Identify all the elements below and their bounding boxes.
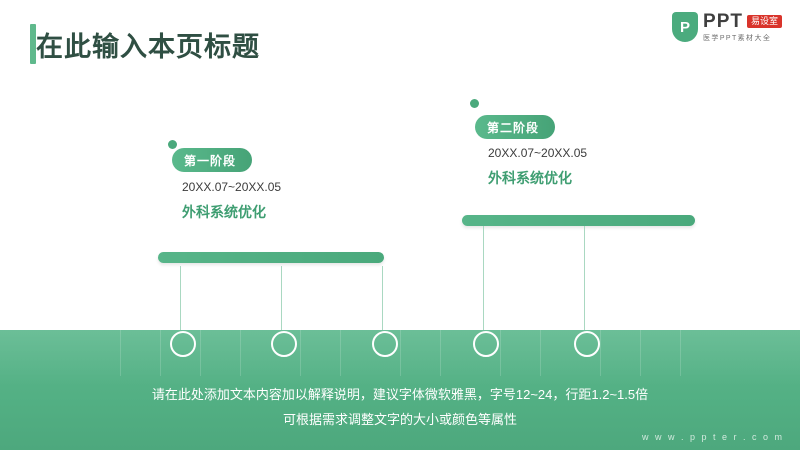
- stage-1-label: 第一阶段: [172, 148, 252, 172]
- stage-1-description: 外科系统优化: [182, 202, 266, 222]
- timeline-node-3[interactable]: [372, 331, 398, 357]
- timeline-band-stripes: [0, 330, 800, 376]
- timeline-node-5[interactable]: [574, 331, 600, 357]
- timeline-node-1[interactable]: [170, 331, 196, 357]
- logo-name: PPT: [703, 12, 743, 31]
- timeline-stem-5: [584, 226, 585, 332]
- logo-badge: 易设室: [747, 15, 782, 28]
- stage-2-label: 第二阶段: [475, 115, 555, 139]
- stage-2-description: 外科系统优化: [488, 168, 572, 188]
- stage-2-date: 20XX.07~20XX.05: [488, 146, 587, 160]
- stage-2-dot: [470, 99, 479, 108]
- stage-1-date: 20XX.07~20XX.05: [182, 180, 281, 194]
- bottom-description: 请在此处添加文本内容加以解释说明，建议字体微软雅黑，字号12~24，行距1.2~…: [0, 382, 800, 432]
- timeline-stem-4: [483, 226, 484, 332]
- watermark: w w w . p p t e r . c o m: [642, 432, 784, 442]
- stage-1-dot: [168, 140, 177, 149]
- timeline-stem-1: [180, 266, 181, 332]
- timeline-node-4[interactable]: [473, 331, 499, 357]
- stage-2-bar: [462, 215, 695, 226]
- logo-subtitle: 医学PPT素材大全: [703, 33, 782, 43]
- shield-icon: P: [672, 12, 698, 42]
- bottom-description-line-2: 可根据需求调整文字的大小或颜色等属性: [0, 407, 800, 432]
- stage-1-bar: [158, 252, 384, 263]
- timeline-node-2[interactable]: [271, 331, 297, 357]
- timeline-stem-3: [382, 266, 383, 332]
- slide: 在此输入本页标题 P PPT 易设室 医学PPT素材大全 第一阶段 20XX.0…: [0, 0, 800, 450]
- logo: P PPT 易设室 医学PPT素材大全: [672, 10, 782, 44]
- bottom-description-line-1: 请在此处添加文本内容加以解释说明，建议字体微软雅黑，字号12~24，行距1.2~…: [0, 382, 800, 407]
- logo-text: PPT 易设室 医学PPT素材大全: [703, 12, 782, 43]
- page-title: 在此输入本页标题: [36, 25, 260, 64]
- logo-main-row: PPT 易设室: [703, 12, 782, 31]
- timeline-stem-2: [281, 266, 282, 332]
